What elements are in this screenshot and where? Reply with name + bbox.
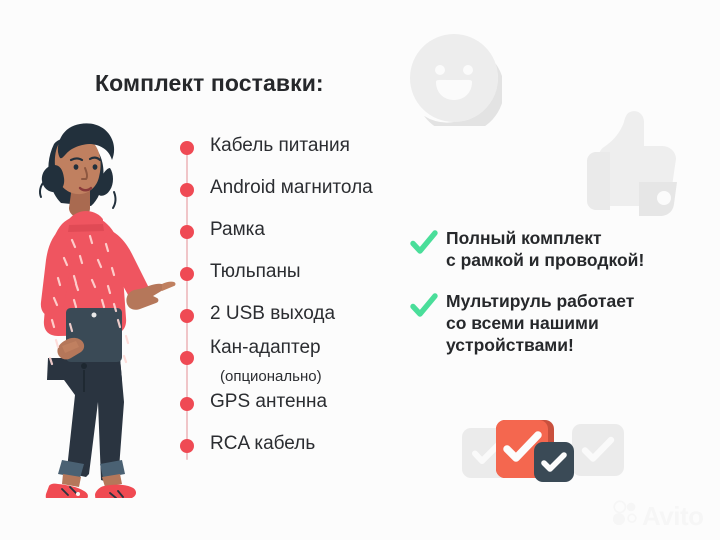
list-item-label: GPS антенна	[210, 392, 327, 412]
avito-logo-icon	[612, 500, 638, 531]
list-item-label: Кабель питания	[210, 136, 350, 156]
bullet-icon	[180, 225, 194, 239]
thumbs-up-icon	[572, 106, 690, 218]
check-icon	[410, 293, 438, 319]
checkbox-dark	[534, 442, 574, 482]
checkbox-grey-right	[572, 424, 624, 476]
promo-card: Комплект поставки:	[0, 0, 720, 540]
page-title: Комплект поставки:	[95, 70, 324, 97]
woman-pointing-illustration	[14, 108, 189, 498]
benefit-label: Полный комплект с рамкой и проводкой!	[446, 228, 700, 271]
checkbox-cluster-illustration	[462, 418, 622, 480]
bullet-icon	[180, 397, 194, 411]
bullet-icon	[180, 309, 194, 323]
bullet-icon	[180, 439, 194, 453]
benefit-item: Полный комплект с рамкой и проводкой!	[410, 228, 700, 271]
bullet-icon	[180, 141, 194, 155]
benefits-block: Полный комплект с рамкой и проводкой! Му…	[410, 228, 700, 370]
benefit-label: Мультируль работает со всеми нашими устр…	[446, 291, 700, 356]
list-item-label: Тюльпаны	[210, 262, 301, 282]
bullet-icon	[180, 183, 194, 197]
check-icon	[410, 230, 438, 256]
list-item-label: 2 USB выхода	[210, 304, 335, 324]
list-item-label: Кан-адаптер	[210, 338, 321, 358]
bullet-icon	[180, 267, 194, 281]
list-item-label: Android магнитола	[210, 178, 373, 198]
avito-watermark: Avito	[612, 500, 704, 531]
avito-wordmark: Avito	[642, 503, 704, 529]
list-item-label: Рамка	[210, 220, 265, 240]
smiley-face-icon	[406, 30, 502, 126]
bullet-icon	[180, 351, 194, 365]
list-item-sublabel: (опционально)	[220, 368, 322, 385]
list-item-label: RCA кабель	[210, 434, 315, 454]
benefit-item: Мультируль работает со всеми нашими устр…	[410, 291, 700, 356]
